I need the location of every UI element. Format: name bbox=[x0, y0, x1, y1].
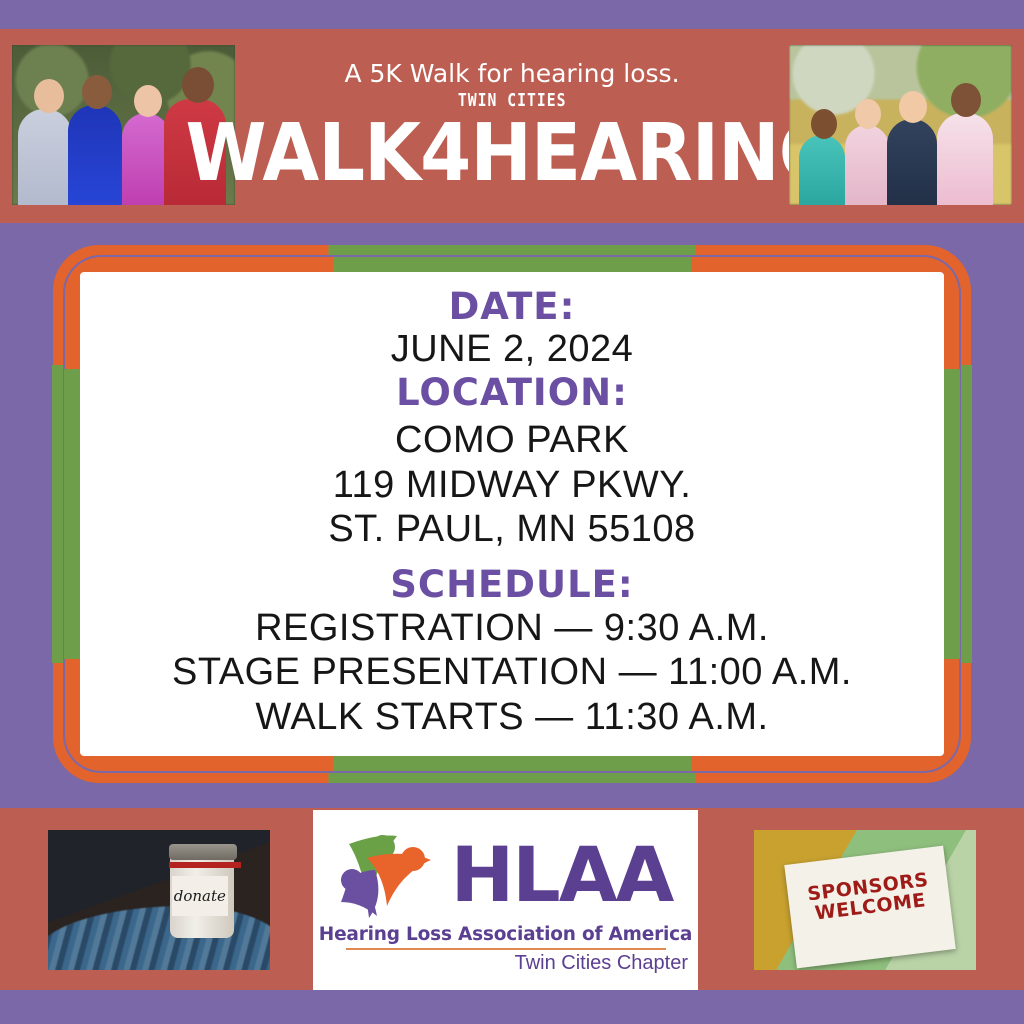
date-label: DATE: bbox=[449, 286, 576, 327]
child-shirt bbox=[845, 125, 889, 205]
hlaa-acronym: HLAA bbox=[451, 841, 673, 909]
tagline: A 5K Walk for hearing loss. bbox=[344, 59, 679, 88]
hlaa-people-mark-icon bbox=[339, 830, 447, 922]
frame-inner-right-green bbox=[942, 369, 960, 659]
header-photo-children bbox=[789, 45, 1012, 205]
donate-photo: donate bbox=[48, 830, 270, 970]
header-text-block: A 5K Walk for hearing loss. TWIN CITIES … bbox=[230, 29, 794, 223]
person-shirt bbox=[18, 109, 72, 205]
person-head bbox=[182, 67, 214, 103]
walk4hearing-wordmark: WALK4HEARING bbox=[186, 113, 839, 194]
hlaa-primary-row: HLAA bbox=[339, 830, 673, 922]
schedule-line: WALK STARTS — 11:30 A.M. bbox=[255, 695, 768, 740]
hlaa-full-name: Hearing Loss Association of America bbox=[319, 924, 692, 945]
decorative-frame-outer: DATE: JUNE 2, 2024 LOCATION: COMO PARK 1… bbox=[53, 245, 971, 783]
location-label: LOCATION: bbox=[396, 372, 628, 413]
person-head bbox=[34, 79, 64, 113]
location-line: COMO PARK bbox=[395, 418, 629, 463]
jar-lid bbox=[169, 844, 237, 860]
hlaa-divider bbox=[346, 948, 666, 950]
child-shirt bbox=[799, 135, 845, 205]
location-line: ST. PAUL, MN 55108 bbox=[328, 507, 695, 552]
donate-photo-text: donate bbox=[174, 887, 226, 905]
decorative-frame-inner: DATE: JUNE 2, 2024 LOCATION: COMO PARK 1… bbox=[65, 257, 959, 771]
person-head bbox=[134, 85, 162, 117]
location-line: 119 MIDWAY PKWY. bbox=[333, 463, 692, 508]
header-banner: A 5K Walk for hearing loss. TWIN CITIES … bbox=[0, 29, 1024, 223]
child-head bbox=[855, 99, 881, 129]
sponsors-photo: SPONSORS WELCOME bbox=[754, 830, 976, 970]
person-head bbox=[82, 75, 112, 109]
schedule-label: SCHEDULE: bbox=[390, 564, 633, 605]
child-head bbox=[899, 91, 927, 123]
children-group bbox=[789, 45, 1012, 205]
decorative-frame-purple-line: DATE: JUNE 2, 2024 LOCATION: COMO PARK 1… bbox=[63, 255, 961, 773]
person-shirt bbox=[122, 113, 170, 205]
schedule-line: STAGE PRESENTATION — 11:00 A.M. bbox=[172, 650, 852, 695]
main-content-area: DATE: JUNE 2, 2024 LOCATION: COMO PARK 1… bbox=[0, 223, 1024, 808]
event-flyer: A 5K Walk for hearing loss. TWIN CITIES … bbox=[0, 0, 1024, 1024]
hlaa-chapter-name: Twin Cities Chapter bbox=[515, 952, 688, 975]
jar-ribbon bbox=[169, 862, 241, 868]
white-content-panel: DATE: JUNE 2, 2024 LOCATION: COMO PARK 1… bbox=[80, 272, 944, 756]
child-shirt bbox=[887, 119, 937, 205]
schedule-line: REGISTRATION — 9:30 A.M. bbox=[255, 606, 769, 651]
hlaa-logo: HLAA Hearing Loss Association of America… bbox=[313, 810, 698, 990]
jar-label: donate bbox=[172, 876, 228, 916]
date-value: JUNE 2, 2024 bbox=[391, 327, 634, 372]
child-shirt bbox=[937, 113, 993, 205]
person-shirt bbox=[68, 105, 122, 205]
child-head bbox=[951, 83, 981, 117]
hlaa-logo-box: HLAA Hearing Loss Association of America… bbox=[313, 810, 698, 990]
child-head bbox=[811, 109, 837, 139]
details-text: DATE: JUNE 2, 2024 LOCATION: COMO PARK 1… bbox=[80, 272, 944, 756]
